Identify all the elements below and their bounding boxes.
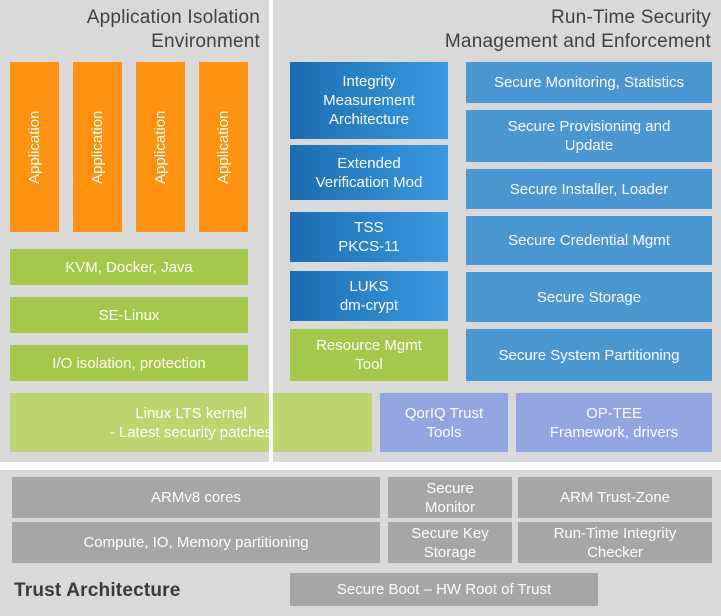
security-box-tss-pkcs-11[interactable]: TSS PKCS-11: [290, 212, 448, 262]
security-box-secure-monitoring-statistics[interactable]: Secure Monitoring, Statistics: [466, 62, 712, 103]
application-box-2[interactable]: Application: [73, 62, 122, 232]
hardware-box-armv8-cores[interactable]: ARMv8 cores: [12, 477, 380, 518]
security-box-extended-verification-mod[interactable]: Extended Verification Mod: [290, 145, 448, 200]
isolation-box-io-isolation-protection[interactable]: I/O isolation, protection: [10, 345, 248, 381]
security-box-resource-mgmt-tool[interactable]: Resource Mgmt Tool: [290, 329, 448, 381]
hardware-box-arm-trust-zone[interactable]: ARM Trust-Zone: [518, 477, 712, 518]
application-box-4[interactable]: Application: [199, 62, 248, 232]
kernel-box-linux-lts-kernel[interactable]: Linux LTS kernel - Latest security patch…: [10, 393, 372, 452]
security-box-integrity-measurement-architecture[interactable]: Integrity Measurement Architecture: [290, 62, 448, 139]
hardware-box-compute-io-memory-partitioning[interactable]: Compute, IO, Memory partitioning: [12, 522, 380, 563]
security-box-secure-system-partitioning[interactable]: Secure System Partitioning: [466, 329, 712, 381]
security-box-secure-provisioning-and-update[interactable]: Secure Provisioning and Update: [466, 110, 712, 162]
security-box-secure-installer-loader[interactable]: Secure Installer, Loader: [466, 169, 712, 209]
security-box-luks-dm-crypt[interactable]: LUKS dm-crypt: [290, 271, 448, 321]
panel-header-application-isolation-environment: Application Isolation Environment: [8, 6, 260, 54]
hardware-box-run-time-integrity-checker[interactable]: Run-Time Integrity Checker: [518, 522, 712, 563]
isolation-box-se-linux[interactable]: SE-Linux: [10, 297, 248, 333]
panel-title-trust-architecture: Trust Architecture: [14, 580, 181, 602]
panel-divider: [269, 0, 273, 462]
security-box-secure-credential-mgmt[interactable]: Secure Credential Mgmt: [466, 216, 712, 265]
hardware-box-secure-monitor[interactable]: Secure Monitor: [388, 477, 512, 518]
isolation-box-kvm-docker-java[interactable]: KVM, Docker, Java: [10, 249, 248, 285]
kernel-box-op-tee-framework-drivers[interactable]: OP-TEE Framework, drivers: [516, 393, 712, 452]
diagram-root: Application Isolation Environment Applic…: [0, 0, 721, 616]
application-box-1[interactable]: Application: [10, 62, 59, 232]
hardware-box-secure-key-storage[interactable]: Secure Key Storage: [388, 522, 512, 563]
security-box-secure-storage[interactable]: Secure Storage: [466, 272, 712, 322]
application-box-3[interactable]: Application: [136, 62, 185, 232]
panel-header-runtime-security-management: Run-Time Security Management and Enforce…: [283, 6, 711, 54]
kernel-box-qoriq-trust-tools[interactable]: QorIQ Trust Tools: [380, 393, 508, 452]
hardware-box-secure-boot-hw-root-of-trust[interactable]: Secure Boot – HW Root of Trust: [290, 573, 598, 606]
